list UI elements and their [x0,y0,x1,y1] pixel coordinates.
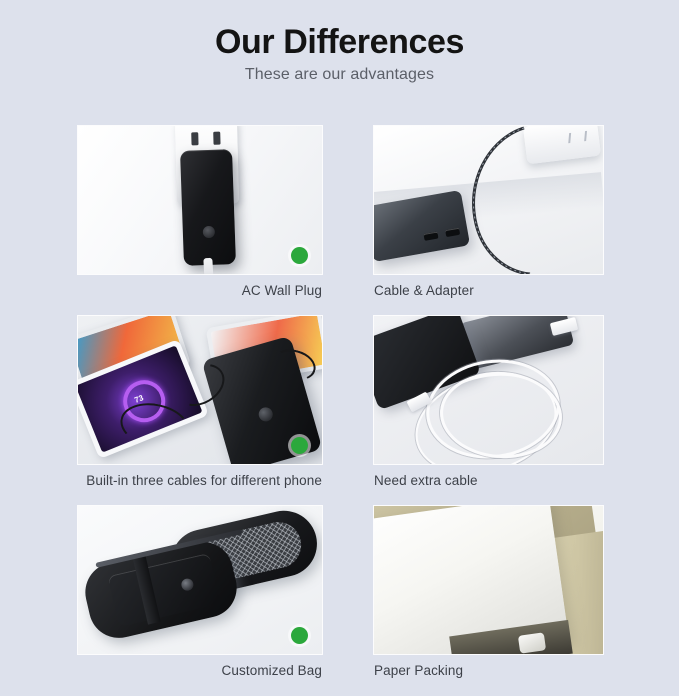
green-check-dot [291,437,308,454]
product-comparison-page: Our Differences These are our advantages… [0,0,679,679]
caption-paper-packing: Paper Packing [374,654,603,680]
green-check-dot [291,247,308,264]
caption-ac-wall-plug: AC Wall Plug [78,274,322,300]
comparison-cell-ours-3: Customized Bag [78,506,322,680]
comparison-cell-ours-2: 73 Built-in three cables for different p… [78,316,322,490]
photo-need-extra-cable [374,316,603,464]
comparison-cell-theirs-2: Need extra cable [374,316,603,490]
photo-built-in-cables: 73 [78,316,322,464]
cable-end [203,258,213,274]
comparison-row: AC Wall Plug Cable & Adapter [78,126,603,300]
socket-prong-right [213,132,220,145]
photo-cable-and-adapter [374,126,603,274]
green-check-dot [291,627,308,644]
comparison-grid: AC Wall Plug Cable & Adapter [78,126,603,696]
caption-customized-bag: Customized Bag [78,654,322,680]
page-title: Our Differences [0,22,679,62]
photo-ac-wall-plug [78,126,322,274]
comparison-cell-theirs-3: Paper Packing [374,506,603,680]
page-header: Our Differences These are our advantages [0,22,679,86]
charging-cable-icon [374,126,603,274]
comparison-cell-theirs-1: Cable & Adapter [374,126,603,300]
caption-need-extra-cable: Need extra cable [374,464,603,490]
comparison-row: 73 Built-in three cables for different p… [78,316,603,490]
photo-paper-packing [374,506,603,654]
socket-prong-left [191,132,198,145]
page-subtitle: These are our advantages [0,64,679,86]
caption-cable-and-adapter: Cable & Adapter [374,274,603,300]
packing-insert [518,632,546,653]
photo-customized-bag [78,506,322,654]
comparison-cell-ours-1: AC Wall Plug [78,126,322,300]
power-bank [180,149,236,266]
comparison-row: Customized Bag Paper Packing [78,506,603,680]
caption-built-in-cables: Built-in three cables for different phon… [78,464,322,490]
